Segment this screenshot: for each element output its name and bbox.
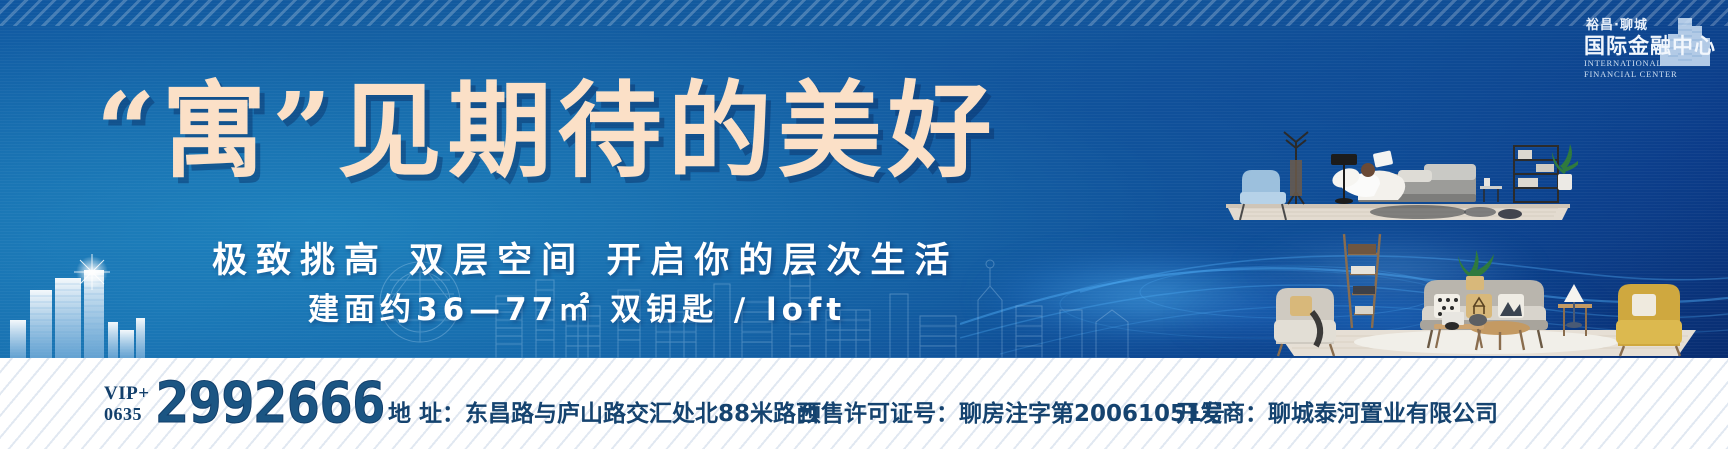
footer-bar: VIP+ 0635 2992666 地 址：东昌路与庐山路交汇处北88米路西 预… [0,358,1728,449]
real-estate-banner: 裕昌·聊城 国际金融中心 INTERNATIONAL FINANCIAL CEN… [0,0,1728,449]
logo-line-3: INTERNATIONAL FINANCIAL CENTER [1580,58,1716,80]
footer-developer: 开发商：聊城泰河置业有限公司 [1176,394,1498,428]
logo-line-2: 国际金融中心 [1580,34,1716,58]
vip-label: VIP+ [104,383,150,404]
phone-block: VIP+ 0635 2992666 [104,376,385,432]
subtitle-line-2: 建面约36—77㎡ 双钥匙 / loft [308,284,1248,329]
area-code: 0635 [104,404,150,425]
headline: “寓”见期待的美好 [96,72,1216,192]
subtitle-line-1: 极致挑高 双层空间 开启你的层次生活 [212,232,1272,283]
footer-address: 地 址：东昌路与庐山路交汇处北88米路西 [388,394,819,428]
footer-license: 预售许可证号：聊房注字第20061051号 [798,394,1225,428]
diagonal-stripe-band [0,0,1728,26]
logo-line-1: 裕昌·聊城 [1580,18,1716,34]
residential-towers-illustration [0,248,240,358]
vip-prefix: VIP+ 0635 [104,383,150,425]
banner-artwork: 裕昌·聊城 国际金融中心 INTERNATIONAL FINANCIAL CEN… [0,0,1728,358]
phone-number: 2992666 [156,376,385,432]
living-room-furniture-scene [1248,232,1718,358]
bedroom-furniture-scene [1218,108,1578,230]
project-logo: 裕昌·聊城 国际金融中心 INTERNATIONAL FINANCIAL CEN… [1580,18,1716,100]
